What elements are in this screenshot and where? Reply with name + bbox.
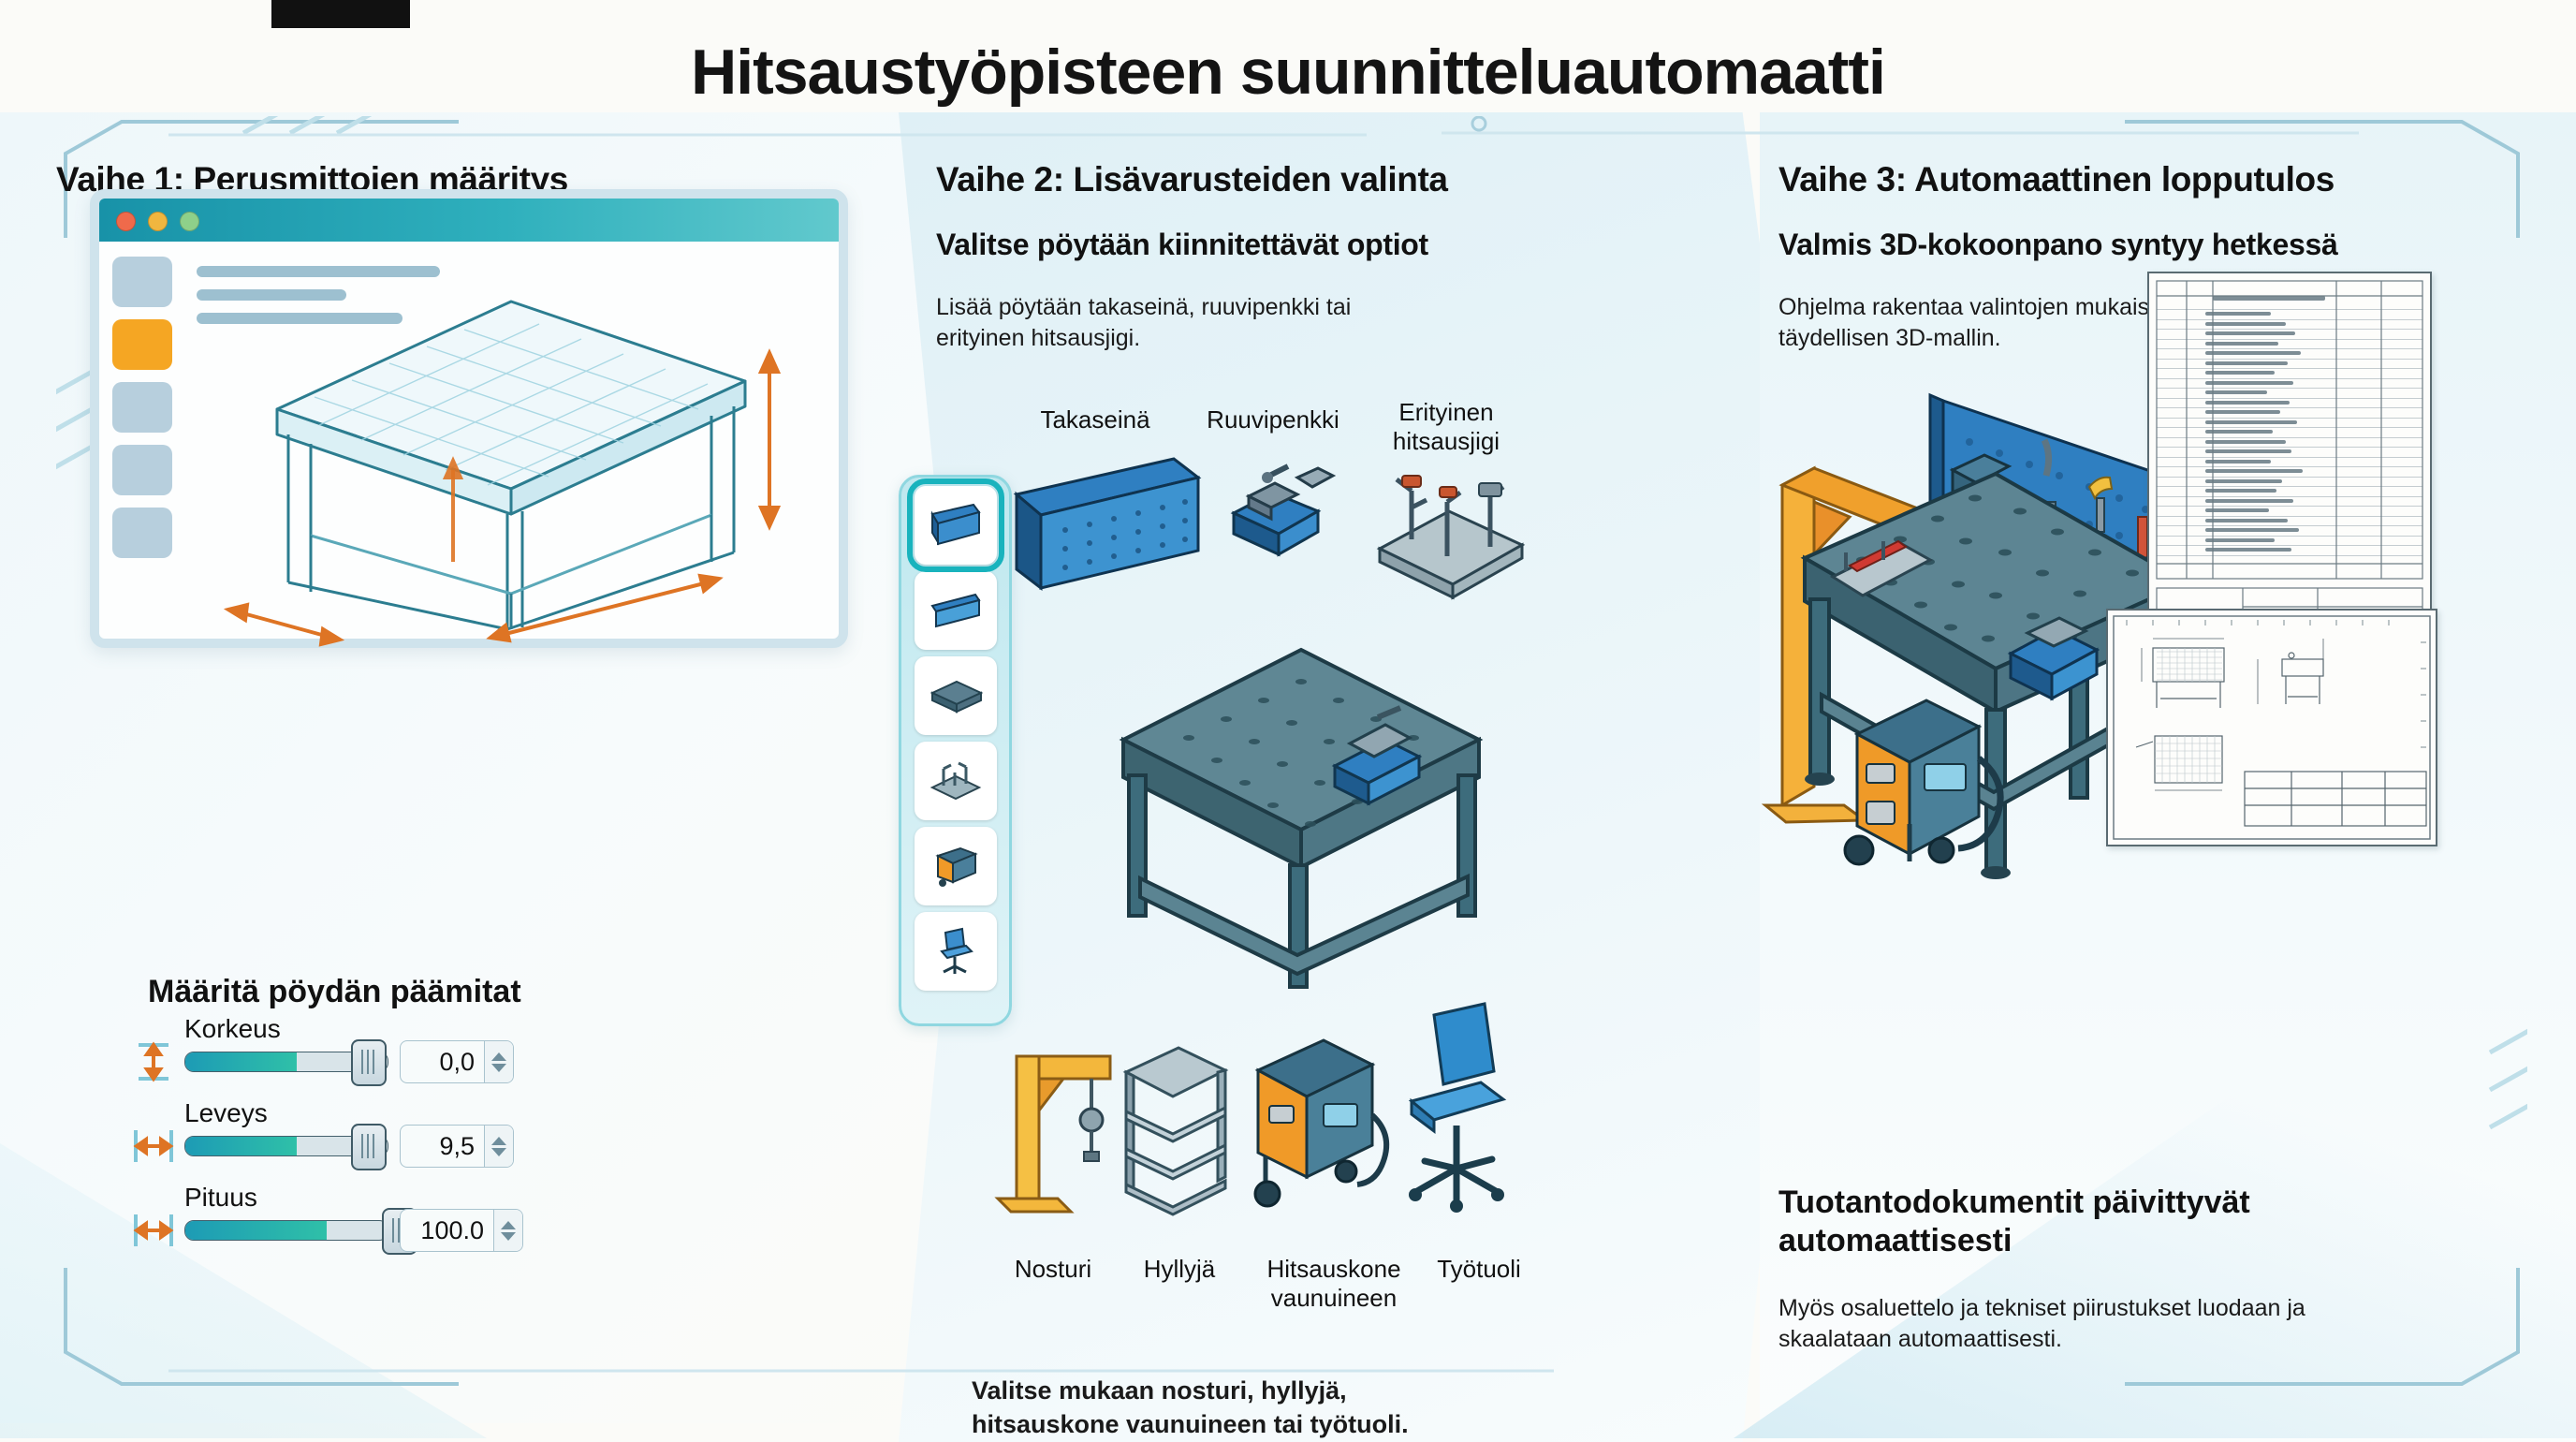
slider-row-korkeus: Korkeus 0,0: [131, 1020, 730, 1095]
stepper-up-icon: [491, 1137, 506, 1145]
step-2-subtitle: Valitse pöytään kiinnitettävät optiot: [936, 228, 1778, 262]
work-chair-thumb[interactable]: [915, 912, 997, 991]
value-pituus: 100.0: [401, 1216, 493, 1245]
welding-jig-thumb[interactable]: [915, 742, 997, 820]
bench-vise-icon[interactable]: [1207, 459, 1357, 581]
controls-heading: Määritä pöydän päämitat: [148, 974, 730, 1010]
dimension-controls: Määritä pöydän päämitat Korkeus 0,0 Leve…: [131, 974, 730, 1263]
slider-knob-korkeus[interactable]: [351, 1039, 387, 1086]
slider-label-pituus: Pituus: [184, 1183, 257, 1213]
option-label-tyotuoli: Työtuoli: [1409, 1255, 1549, 1284]
stepper-down-icon: [491, 1064, 506, 1072]
bill-of-materials-sheet[interactable]: [2147, 272, 2432, 631]
length-arrow-icon: [131, 1209, 176, 1252]
width-arrow-icon: [131, 1125, 176, 1168]
step-3-subtitle: Valmis 3D-kokoonpano syntyy hetkessä: [1778, 228, 2527, 262]
step-3-footer-heading: Tuotantodokumentit päivittyvät automaatt…: [1778, 1184, 2321, 1261]
value-korkeus: 0,0: [401, 1048, 484, 1077]
option-label-hyllyja: Hyllyjä: [1109, 1255, 1250, 1284]
stepper-leveys[interactable]: [484, 1126, 513, 1167]
step-2-body: Lisää pöytään takaseinä, ruuvipenkki tai…: [936, 292, 1423, 354]
step-2-panel: Vaihe 2: Lisävarusteiden valinta Valitse…: [936, 131, 1778, 1395]
slider-label-leveys: Leveys: [184, 1098, 268, 1128]
step-3-footer-body: Myös osaluettelo ja tekniset piirustukse…: [1778, 1293, 2396, 1355]
slider-row-pituus: Pituus 100.0: [131, 1188, 730, 1263]
stepper-korkeus[interactable]: [484, 1041, 513, 1082]
height-arrow-icon: [131, 1040, 176, 1083]
option-label-hitsausjigi: Erityinen hitsausjigi: [1371, 398, 1521, 456]
welding-machine-thumb[interactable]: [915, 827, 997, 905]
slider-knob-leveys[interactable]: [351, 1124, 387, 1170]
welding-machine-cart-icon[interactable]: [1236, 1025, 1395, 1227]
page-title: Hitsaustyöpisteen suunnitteluautomaatti: [0, 36, 2576, 109]
value-input-korkeus[interactable]: 0,0: [400, 1040, 514, 1083]
step-2-footer: Valitse mukaan nosturi, hyllyjä, hitsaus…: [972, 1375, 1477, 1441]
perforated-plate-thumb[interactable]: [915, 656, 997, 735]
stepper-pituus[interactable]: [493, 1210, 522, 1251]
value-input-pituus[interactable]: 100.0: [400, 1209, 523, 1252]
cad-viewport-table-wireframe: [90, 189, 839, 657]
slider-row-leveys: Leveys 9,5: [131, 1104, 730, 1179]
step-3-footer-block: Tuotantodokumentit päivittyvät automaatt…: [1778, 1152, 2518, 1378]
step-1-panel: Vaihe 1: Perusmittojen määritys: [56, 131, 927, 1395]
welding-table-icon[interactable]: [1105, 627, 1498, 1002]
stepper-down-icon: [501, 1232, 516, 1241]
work-chair-icon[interactable]: [1383, 1002, 1524, 1227]
back-wall-large-thumb[interactable]: [915, 486, 997, 565]
step-2-title: Vaihe 2: Lisävarusteiden valinta: [936, 160, 1778, 199]
step-3-panel: Vaihe 3: Automaattinen lopputulos Valmis…: [1778, 131, 2527, 1395]
back-wall-icon[interactable]: [1009, 457, 1206, 607]
option-label-takaseina: Takaseinä: [1011, 405, 1179, 434]
technical-drawing-sheet[interactable]: [2106, 609, 2437, 846]
stepper-up-icon: [501, 1221, 516, 1229]
shelving-icon[interactable]: [1109, 1044, 1240, 1222]
value-input-leveys[interactable]: 9,5: [400, 1125, 514, 1168]
redaction-bar: [271, 0, 410, 28]
option-label-ruuvipenkki: Ruuvipenkki: [1184, 405, 1362, 434]
stepper-down-icon: [491, 1148, 506, 1156]
step-3-title: Vaihe 3: Automaattinen lopputulos: [1778, 160, 2527, 199]
slider-label-korkeus: Korkeus: [184, 1014, 281, 1044]
cad-window[interactable]: [90, 189, 839, 657]
slider-track-pituus[interactable]: [184, 1220, 388, 1241]
production-documents[interactable]: [2106, 272, 2518, 852]
option-label-hitsauskone: Hitsauskone vaunuineen: [1245, 1255, 1423, 1313]
options-palette[interactable]: [899, 475, 1012, 1026]
back-wall-small-thumb[interactable]: [915, 571, 997, 650]
value-leveys: 9,5: [401, 1132, 484, 1161]
welding-jig-icon[interactable]: [1367, 459, 1535, 599]
stepper-up-icon: [491, 1052, 506, 1061]
